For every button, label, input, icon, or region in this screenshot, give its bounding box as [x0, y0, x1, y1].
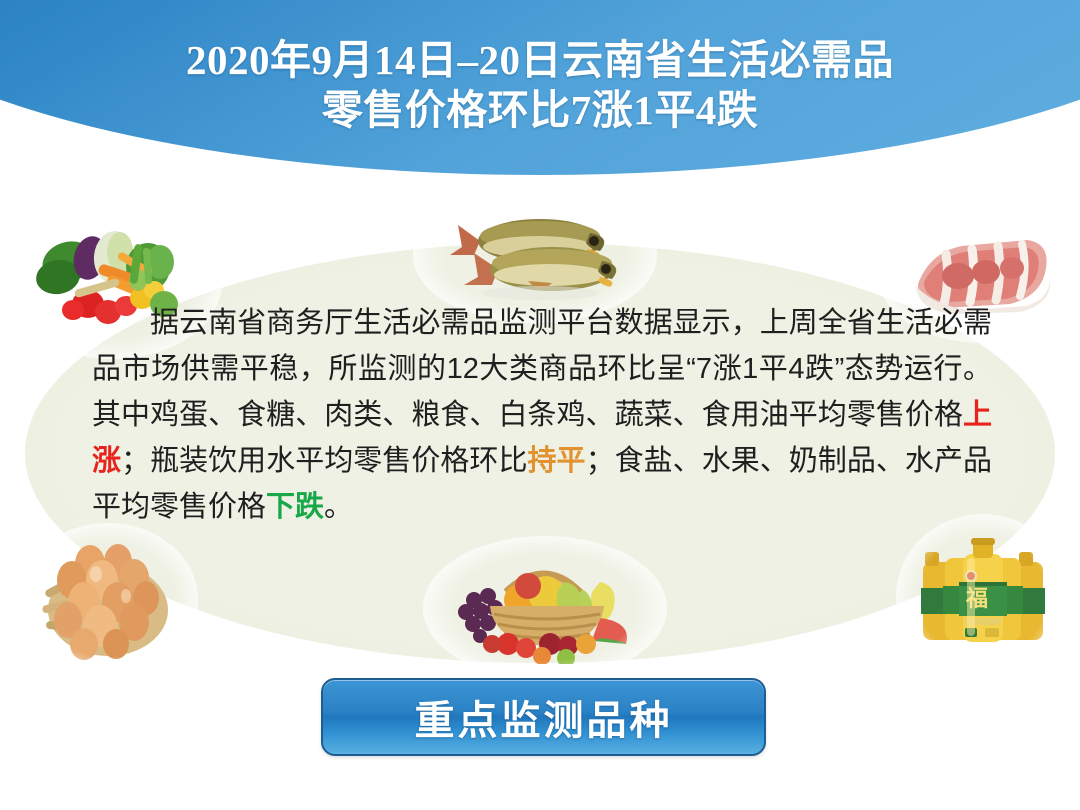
- page-title-line-2: 零售价格环比7涨1平4跌: [322, 86, 759, 134]
- fruit-basket-photo: [450, 552, 640, 664]
- cooking-oil-icon: 福: [915, 532, 1050, 662]
- keyword-price-flat: 持平: [528, 445, 586, 477]
- fruit-basket-icon: [450, 552, 640, 664]
- fish-photo: [440, 203, 630, 308]
- keyword-price-down: 下跌: [266, 491, 324, 523]
- key-monitored-varieties-label: 重点监测品种: [415, 688, 673, 746]
- eggs-icon: [38, 540, 178, 660]
- key-monitored-varieties-button[interactable]: 重点监测品种: [321, 678, 766, 756]
- header-banner: 2020年9月14日–20日云南省生活必需品 零售价格环比7涨1平4跌: [0, 0, 1080, 175]
- cooking-oil-photo: 福: [915, 532, 1050, 662]
- fish-icon: [440, 203, 630, 308]
- paragraph-segment-4: 。: [324, 491, 353, 523]
- paragraph-segment-1: 据云南省商务厅生活必需品监测平台数据显示，上周全省生活必需品市场供需平稳，所监测…: [92, 307, 992, 431]
- header-title-block: 2020年9月14日–20日云南省生活必需品 零售价格环比7涨1平4跌: [0, 0, 1080, 170]
- page-title-line-1: 2020年9月14日–20日云南省生活必需品: [186, 36, 894, 84]
- eggs-photo: [38, 540, 178, 660]
- summary-paragraph: 据云南省商务厅生活必需品监测平台数据显示，上周全省生活必需品市场供需平稳，所监测…: [92, 300, 992, 530]
- paragraph-segment-2: ；瓶装饮用水平均零售价格环比: [121, 445, 527, 477]
- poster-root: 2020年9月14日–20日云南省生活必需品 零售价格环比7涨1平4跌: [0, 0, 1080, 810]
